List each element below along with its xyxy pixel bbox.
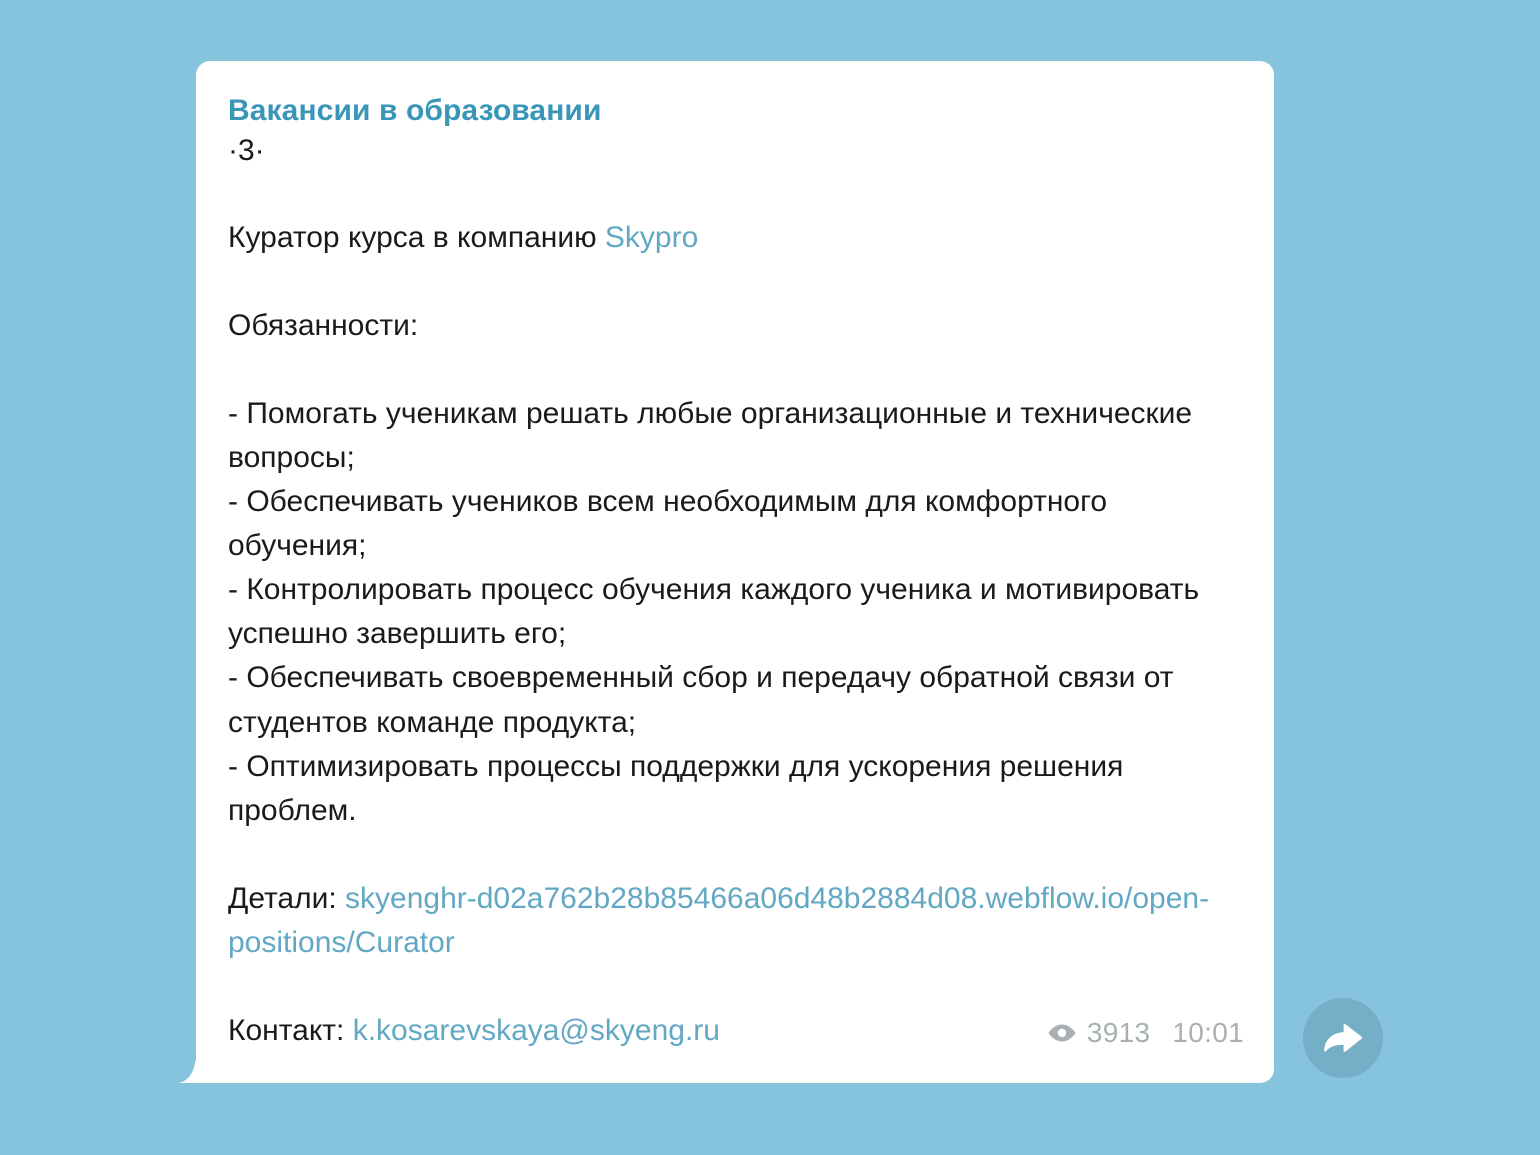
contact-line: Контакт: k.kosarevskaya@skyeng.ru (228, 1009, 720, 1053)
skypro-link[interactable]: Skypro (605, 221, 698, 254)
channel-title[interactable]: Вакансии в образовании (228, 91, 1244, 131)
spacer (228, 172, 1244, 216)
details-line: Детали: skyenghr-d02a762b28b85466a06d48b… (228, 877, 1244, 965)
spacer (228, 348, 1244, 392)
spacer (228, 260, 1244, 304)
responsibility-item: - Обеспечивать учеников всем необходимым… (228, 480, 1244, 568)
contact-label: Контакт: (228, 1014, 353, 1047)
responsibility-item: - Помогать ученикам решать любые организ… (228, 392, 1244, 480)
details-link[interactable]: skyenghr-d02a762b28b85466a06d48b2884d08.… (228, 882, 1209, 959)
forward-button[interactable] (1303, 998, 1383, 1078)
responsibility-item: - Контролировать процесс обучения каждог… (228, 568, 1244, 656)
responsibilities-list: - Помогать ученикам решать любые организ… (228, 392, 1244, 833)
message-meta: 3913 10:01 (1047, 1017, 1244, 1053)
views-count: 3913 (1087, 1017, 1151, 1049)
contact-row: Контакт: k.kosarevskaya@skyeng.ru 3913 1… (228, 1009, 1244, 1053)
intro-prefix-text: Куратор курса в компанию (228, 221, 605, 254)
index-marker: ·3· (228, 131, 1244, 172)
bubble-tail-icon (179, 1057, 197, 1083)
spacer (228, 833, 1244, 877)
details-label: Детали: (228, 882, 345, 915)
contact-email-link[interactable]: k.kosarevskaya@skyeng.ru (353, 1014, 720, 1047)
eye-icon (1047, 1023, 1077, 1043)
responsibilities-label: Обязанности: (228, 304, 1244, 348)
intro-line: Куратор курса в компанию Skypro (228, 216, 1244, 260)
responsibility-item: - Обеспечивать своевременный сбор и пере… (228, 656, 1244, 744)
forward-arrow-icon (1323, 1021, 1363, 1055)
message-bubble[interactable]: Вакансии в образовании ·3· Куратор курса… (196, 61, 1274, 1083)
responsibility-item: - Оптимизировать процессы поддержки для … (228, 745, 1244, 833)
message-time: 10:01 (1172, 1017, 1244, 1049)
chat-area: Вакансии в образовании ·3· Куратор курса… (0, 0, 1540, 1155)
